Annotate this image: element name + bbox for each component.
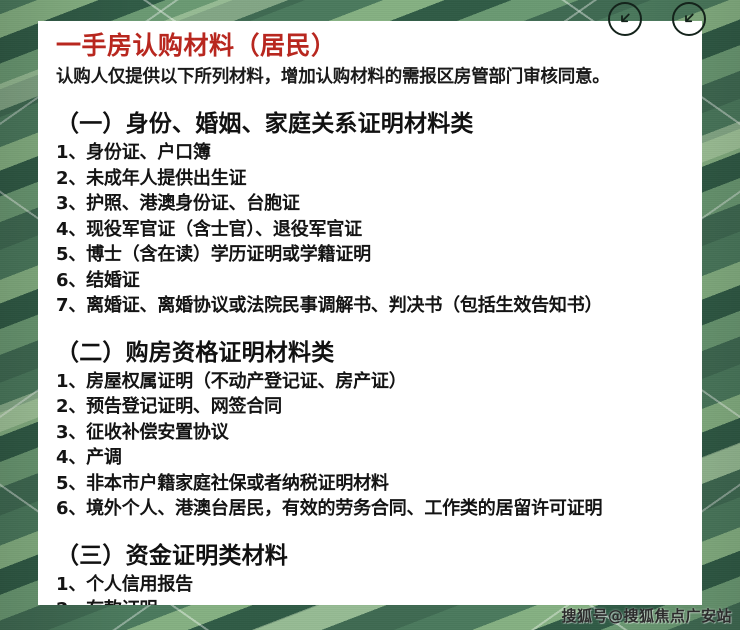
circle-arrow-down-left-icon[interactable] [672, 2, 706, 36]
section-group-3: （三）资金证明类材料 1、个人信用报告 2、存款证明 [56, 540, 688, 606]
section-heading-1: （一）身份、婚姻、家庭关系证明材料类 [56, 108, 688, 140]
slide-canvas: 一手房认购材料（居民） 认购人仅提供以下所列材料，增加认购材料的需报区房管部门审… [0, 0, 740, 630]
list-item: 3、征收补偿安置协议 [56, 420, 688, 446]
page-subtitle: 认购人仅提供以下所列材料，增加认购材料的需报区房管部门审核同意。 [56, 64, 688, 90]
list-item: 4、产调 [56, 445, 688, 471]
list-item: 1、身份证、户口簿 [56, 140, 688, 166]
section-heading-2: （二）购房资格证明材料类 [56, 337, 688, 369]
list-item: 2、预告登记证明、网签合同 [56, 394, 688, 420]
list-item: 2、存款证明 [56, 597, 688, 605]
list-item: 1、个人信用报告 [56, 572, 688, 598]
content-card: 一手房认购材料（居民） 认购人仅提供以下所列材料，增加认购材料的需报区房管部门审… [38, 21, 702, 605]
list-item: 3、护照、港澳身份证、台胞证 [56, 191, 688, 217]
section-list-2: 1、房屋权属证明（不动产登记证、房产证） 2、预告登记证明、网签合同 3、征收补… [56, 369, 688, 522]
list-item: 5、博士（含在读）学历证明或学籍证明 [56, 242, 688, 268]
section-heading-3: （三）资金证明类材料 [56, 540, 688, 572]
page-title: 一手房认购材料（居民） [56, 29, 688, 63]
corner-icon-group [608, 2, 706, 36]
list-item: 1、房屋权属证明（不动产登记证、房产证） [56, 369, 688, 395]
list-item: 7、离婚证、离婚协议或法院民事调解书、判决书（包括生效告知书） [56, 293, 688, 319]
list-item: 6、结婚证 [56, 268, 688, 294]
section-list-3: 1、个人信用报告 2、存款证明 [56, 572, 688, 606]
list-item: 2、未成年人提供出生证 [56, 166, 688, 192]
section-group-1: （一）身份、婚姻、家庭关系证明材料类 1、身份证、户口簿 2、未成年人提供出生证… [56, 108, 688, 319]
list-item: 5、非本市户籍家庭社保或者纳税证明材料 [56, 471, 688, 497]
circle-arrow-down-left-icon[interactable] [608, 2, 642, 36]
watermark-text: 搜狐号@搜狐焦点广安站 [561, 605, 732, 626]
list-item: 6、境外个人、港澳台居民，有效的劳务合同、工作类的居留许可证明 [56, 496, 688, 522]
section-group-2: （二）购房资格证明材料类 1、房屋权属证明（不动产登记证、房产证） 2、预告登记… [56, 337, 688, 522]
list-item: 4、现役军官证（含士官）、退役军官证 [56, 217, 688, 243]
section-list-1: 1、身份证、户口簿 2、未成年人提供出生证 3、护照、港澳身份证、台胞证 4、现… [56, 140, 688, 319]
